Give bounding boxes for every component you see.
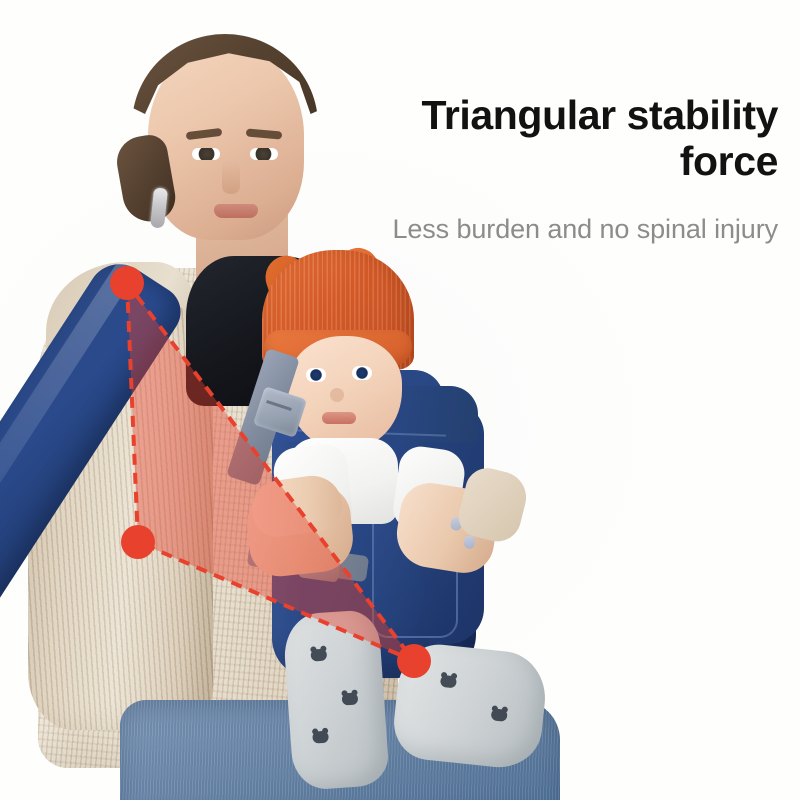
copy-block: Triangular stability force Less burden a… [348, 92, 778, 245]
baby-face [288, 336, 402, 448]
product-feature-image: Triangular stability force Less burden a… [0, 0, 800, 800]
baby-nose [330, 388, 344, 402]
baby-eye-right [352, 366, 372, 380]
mouth [214, 204, 258, 218]
panda-print [312, 731, 329, 744]
eye-left [192, 148, 220, 160]
vertex-dot-shoulder [110, 266, 144, 300]
nose [222, 160, 240, 194]
page-title: Triangular stability force [348, 92, 778, 185]
panda-print [440, 675, 457, 689]
panda-print [310, 649, 327, 662]
fingernail [463, 535, 476, 550]
panda-print [342, 692, 359, 705]
panda-print [491, 708, 508, 722]
baby-leg-left [282, 609, 390, 791]
baby-mouth [322, 412, 356, 424]
baby-eye-left [306, 368, 326, 382]
vertex-dot-hip [121, 525, 155, 559]
vertex-dot-seat [397, 644, 431, 678]
subtitle: Less burden and no spinal injury [348, 213, 778, 245]
eye-right [250, 148, 278, 160]
